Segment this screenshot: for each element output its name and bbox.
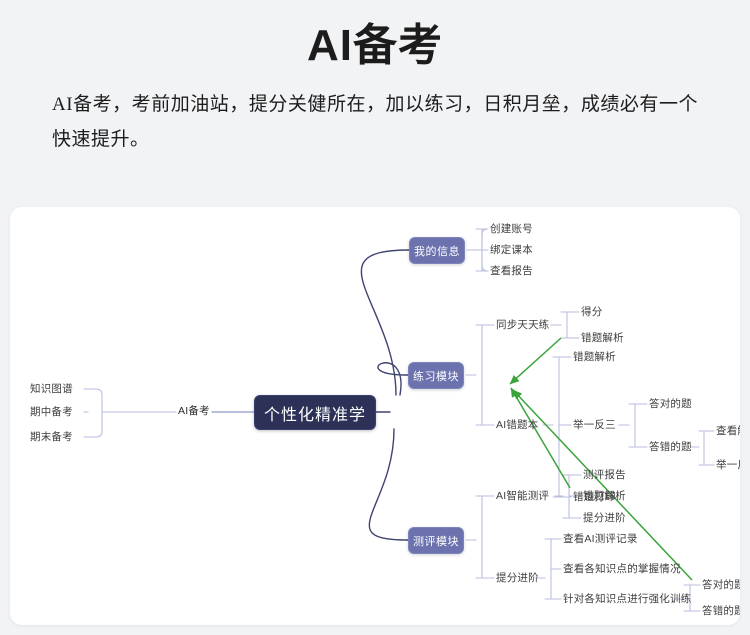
leaf-tifen-jinjie-ceping[interactable]: 提分进阶 [583,513,626,524]
arrow-cuotijiexi-to-cuotiben [510,338,561,384]
node-lianxi-mokuai[interactable]: 练习模块 [408,362,464,389]
leaf-chakan-zhishidian-zhangwo[interactable]: 查看各知识点的掌握情况 [563,564,681,575]
page-intro: AI备考，考前加油站，提分关健所在，加以练习，日积月垒，成绩必有一个快速提升。 [52,87,698,157]
node-wode-xinxi[interactable]: 我的信息 [409,237,465,264]
leaf-ai-zhineng-ceping[interactable]: AI智能测评 [496,491,549,502]
node-root[interactable]: 个性化精准学 [254,395,376,430]
leaf-defen[interactable]: 得分 [581,307,602,318]
leaf-dacuodeti-qianghua[interactable]: 答错的题 [702,606,740,617]
leaf-tongbu-tiantianlian[interactable]: 同步天天练 [496,320,550,331]
leaf-chuangjian-zhanghao[interactable]: 创建账号 [490,224,533,235]
leaf-qimo-beikao[interactable]: 期末备考 [30,432,73,443]
node-label: 练习模块 [413,368,459,384]
leaf-ai-beikao-hub[interactable]: AI备考 [178,406,210,417]
node-label: 我的信息 [414,243,460,259]
leaf-bangding-keben[interactable]: 绑定课本 [490,245,533,256]
leaf-ceping-baogao[interactable]: 测评报告 [583,470,626,481]
leaf-tifen-jinjie-module[interactable]: 提分进阶 [496,573,539,584]
leaf-qizhong-beikao[interactable]: 期中备考 [30,407,73,418]
leaf-chakan-ai-ceping-jilu[interactable]: 查看AI测评记录 [563,534,638,545]
leaf-cuoti-jiexi-tiantianlian[interactable]: 错题解析 [581,333,624,344]
leaf-cuoti-jiexi-cuotiben[interactable]: 错题解析 [573,352,616,363]
leaf-cuoti-jiexi-ceping[interactable]: 错题解析 [583,491,626,502]
page-title: AI备考 [0,0,750,73]
leaf-chakan-jiexi[interactable]: 查看解析 [716,426,740,437]
leaf-zhishi-tupu[interactable]: 知识图谱 [30,384,73,395]
leaf-ai-cuotiben[interactable]: AI错题本 [496,420,538,431]
leaf-dacuodeti-juyifansan[interactable]: 答错的题 [649,442,692,453]
leaf-zhendui-zhishidian-qianghua[interactable]: 针对各知识点进行强化训练 [563,594,691,605]
leaf-daduideti-juyifansan[interactable]: 答对的题 [649,399,692,410]
leaf-juyifansan-dacuodeti[interactable]: 举一反三 [716,460,740,471]
leaf-daduideti-qianghua[interactable]: 答对的题 [702,580,740,591]
leaf-juyifansan-cuotiben[interactable]: 举一反三 [573,420,616,431]
arrow-ceping-cuotijiexi-to-cuotiben [511,388,570,488]
mindmap-card: 知识图谱 期中备考 期末备考 AI备考 考试模块 个性化精准学 我的信息 练习模… [10,207,740,625]
node-label: 个性化精准学 [264,401,366,425]
leaf-chakan-baogao[interactable]: 查看报告 [490,266,533,277]
node-ceping-mokuai[interactable]: 测评模块 [408,527,464,554]
node-label: 测评模块 [413,533,459,549]
